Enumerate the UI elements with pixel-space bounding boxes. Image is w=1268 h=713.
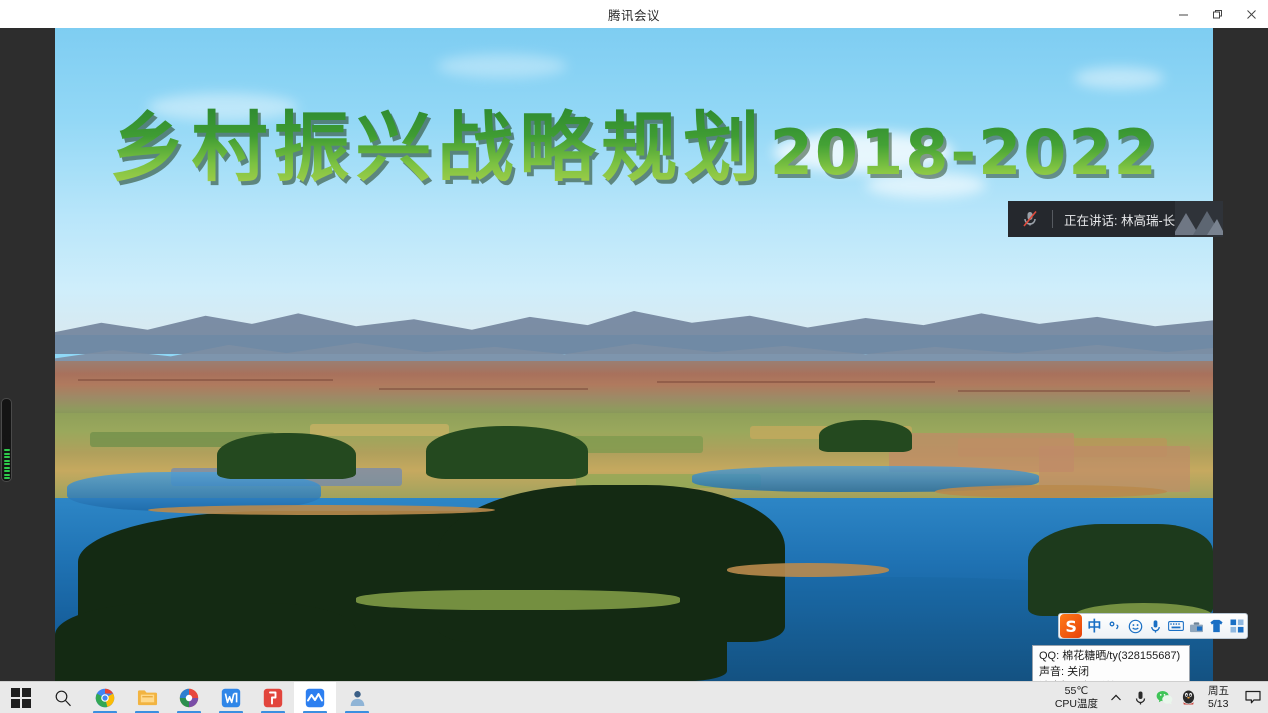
- clock-day: 周五: [1208, 685, 1229, 698]
- sogou-logo-icon[interactable]: S: [1060, 614, 1082, 638]
- forest-island: [426, 426, 588, 478]
- mic-muted-icon: [1008, 210, 1052, 228]
- chrome-icon: [95, 688, 115, 708]
- search-icon: [54, 689, 72, 707]
- level-segment: [4, 442, 10, 444]
- wechat-icon: [1156, 690, 1173, 705]
- search-button[interactable]: [42, 682, 84, 713]
- cpu-temp-label: CPU温度: [1055, 698, 1098, 711]
- window-title: 腾讯会议: [608, 5, 660, 24]
- folder-icon: [137, 688, 158, 707]
- level-segment: [4, 435, 10, 437]
- chevron-up-icon: [1110, 692, 1122, 704]
- contacts-button[interactable]: [336, 682, 378, 713]
- toolbox-icon[interactable]: [1186, 614, 1206, 638]
- wps-writer-icon: [221, 688, 241, 708]
- shoreline: [148, 505, 495, 515]
- speech-bubble-icon: [1245, 690, 1261, 705]
- chrome-button[interactable]: [84, 682, 126, 713]
- voice-input-icon[interactable]: [1145, 614, 1165, 638]
- shared-screen-area[interactable]: 乡村振兴战略规划 2018-2022: [55, 28, 1213, 681]
- taskbar-clock[interactable]: 周五 5/13: [1202, 685, 1238, 710]
- window-title-bar[interactable]: 腾讯会议: [0, 0, 1268, 28]
- show-hidden-icons-button[interactable]: [1104, 682, 1128, 713]
- wps-writer-button[interactable]: [210, 682, 252, 713]
- level-segment: [4, 453, 10, 455]
- pdf-button[interactable]: [252, 682, 294, 713]
- emoji-icon[interactable]: [1125, 614, 1145, 638]
- person-avatar-icon: [348, 688, 367, 707]
- soft-keyboard-icon[interactable]: [1166, 614, 1186, 638]
- window-controls: [1166, 0, 1268, 28]
- browser-button[interactable]: [168, 682, 210, 713]
- level-segment: [4, 449, 10, 451]
- cpu-temp-value: 55℃: [1065, 685, 1088, 698]
- level-segment: [4, 467, 10, 469]
- level-segment: [4, 470, 10, 472]
- clock-date: 5/13: [1208, 698, 1228, 711]
- colorful-browser-icon: [179, 688, 199, 708]
- forest-island: [819, 420, 912, 453]
- chinese-mode-icon[interactable]: 中: [1084, 614, 1104, 638]
- active-speaker-overlay[interactable]: 正在讲话: 林高瑞-长安大学;: [1008, 201, 1223, 237]
- taskbar-buttons: [0, 682, 378, 713]
- level-segment: [4, 477, 10, 479]
- qq-tray-icon[interactable]: [1176, 682, 1200, 713]
- cloud: [437, 54, 567, 78]
- wechat-tray-icon[interactable]: [1152, 682, 1176, 713]
- sandbar: [727, 563, 889, 576]
- sky-background: [55, 28, 1213, 335]
- tooltip-line: QQ: 棉花糖晒/ty(328155687): [1039, 649, 1184, 665]
- level-segment: [4, 460, 10, 462]
- close-button[interactable]: [1234, 0, 1268, 28]
- punctuation-icon[interactable]: [1105, 614, 1125, 638]
- forest-mass: [1028, 524, 1213, 615]
- screen: 腾讯会议: [0, 0, 1268, 713]
- action-center-button[interactable]: [1238, 682, 1268, 713]
- sogou-ime-toolbar[interactable]: S 中: [1058, 613, 1248, 639]
- level-segment: [4, 474, 10, 476]
- tencent-meeting-icon: [305, 688, 325, 708]
- restore-button[interactable]: [1200, 0, 1234, 28]
- forest-foreground: [55, 603, 356, 681]
- tooltip-line: 声音: 关闭: [1039, 665, 1184, 681]
- taskbar: 55℃ CPU温度: [0, 681, 1268, 713]
- apps-icon[interactable]: [1227, 614, 1247, 638]
- microphone-tray-icon[interactable]: [1128, 682, 1152, 713]
- windows-logo-icon: [11, 688, 31, 708]
- sandbar: [356, 590, 680, 611]
- system-tray: [1104, 682, 1202, 713]
- minimize-button[interactable]: [1166, 0, 1200, 28]
- start-button[interactable]: [0, 682, 42, 713]
- level-segment: [4, 456, 10, 458]
- speaker-avatar: [1175, 201, 1223, 237]
- pdf-icon: [263, 688, 283, 708]
- level-segment: [4, 463, 10, 465]
- forest-island: [217, 433, 356, 479]
- presentation-slide: 乡村振兴战略规划 2018-2022: [55, 28, 1213, 681]
- distant-fields: [55, 361, 1213, 420]
- microphone-level-meter[interactable]: [1, 398, 12, 482]
- level-segment: [4, 439, 10, 441]
- level-segment: [4, 446, 10, 448]
- cloud: [866, 172, 986, 198]
- tencent-meeting-button[interactable]: [294, 682, 336, 713]
- file-explorer-button[interactable]: [126, 682, 168, 713]
- skin-icon[interactable]: [1206, 614, 1226, 638]
- qq-penguin-icon: [1181, 689, 1196, 706]
- cpu-temperature-widget[interactable]: 55℃ CPU温度: [1049, 685, 1104, 710]
